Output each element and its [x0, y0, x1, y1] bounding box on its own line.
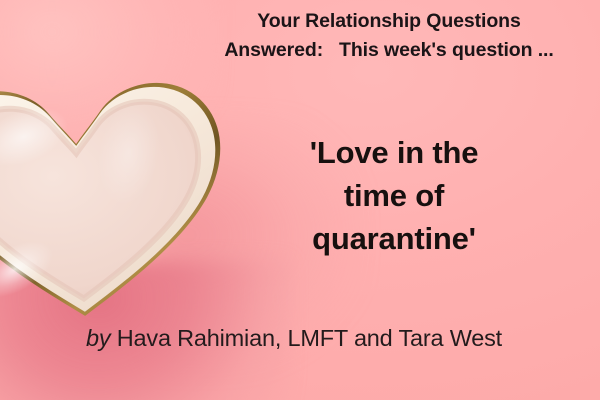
header-line-1: Your Relationship Questions	[178, 7, 600, 36]
title-line-1: 'Love in the	[233, 131, 555, 174]
title-line-3: quarantine'	[233, 217, 555, 260]
byline-prefix: by	[86, 325, 110, 351]
byline-authors: Hava Rahimian, LMFT and Tara West	[117, 325, 502, 351]
header-line-2: Answered: This week's question ...	[178, 36, 600, 65]
header-text: Your Relationship Questions Answered: Th…	[178, 7, 600, 65]
article-header-graphic: Your Relationship Questions Answered: Th…	[0, 0, 600, 400]
byline: by Hava Rahimian, LMFT and Tara West	[86, 323, 586, 353]
heart-dish-image	[0, 30, 241, 330]
title-line-2: time of	[233, 174, 555, 217]
article-title: 'Love in the time of quarantine'	[233, 131, 555, 260]
